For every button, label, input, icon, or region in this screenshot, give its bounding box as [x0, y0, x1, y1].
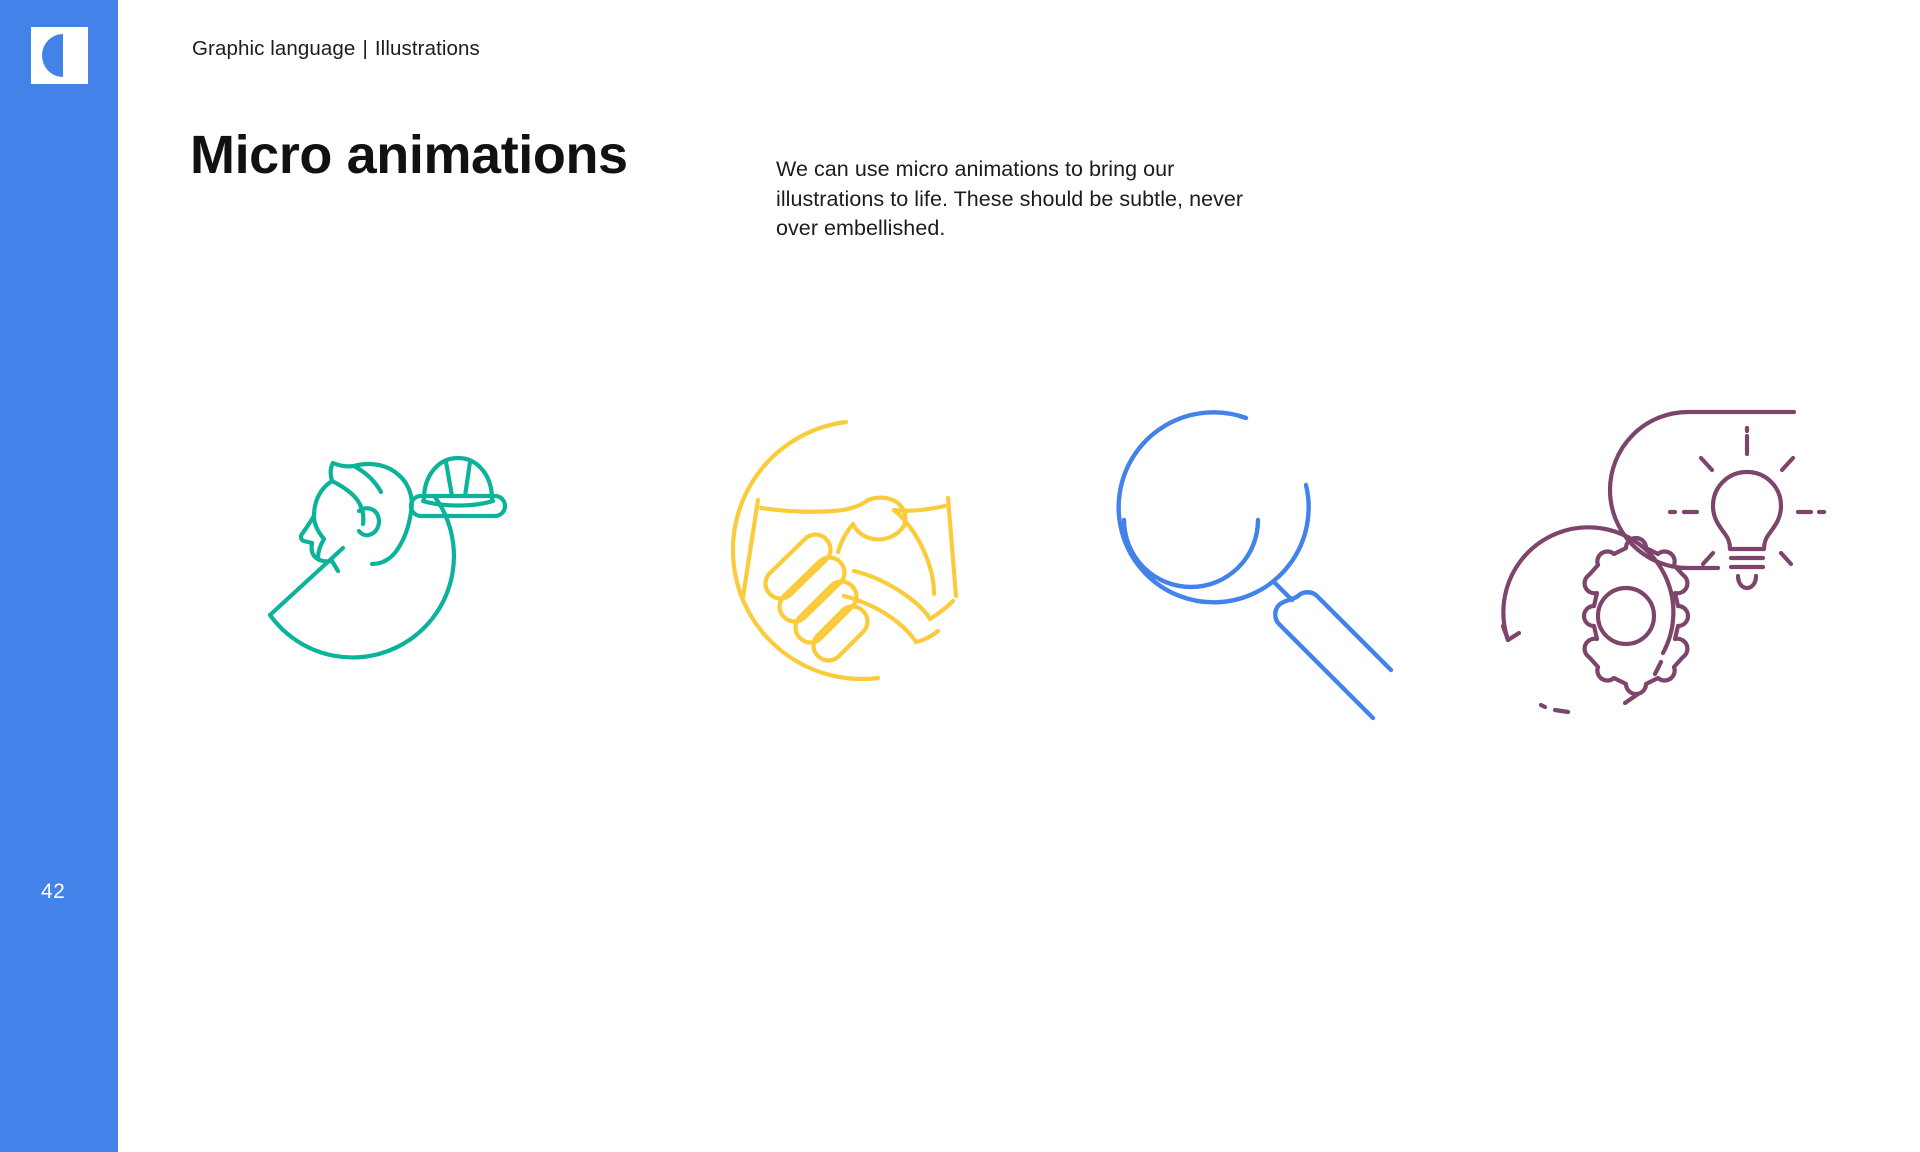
breadcrumb-page[interactable]: Illustrations: [375, 37, 480, 60]
brand-logo[interactable]: [31, 27, 88, 84]
slide-canvas: 42 Graphic language|Illustrations Micro …: [0, 0, 1920, 1152]
page-number: 42: [41, 880, 65, 904]
magnifying-glass-illustration: [1078, 400, 1408, 730]
worker-hard-hat-illustration: [218, 400, 548, 730]
page-title: Micro animations: [190, 124, 628, 186]
lightbulb-gear-illustration: [1498, 400, 1828, 730]
breadcrumb-divider: |: [355, 37, 374, 60]
breadcrumb: Graphic language|Illustrations: [192, 37, 480, 61]
body-paragraph: We can use micro animations to bring our…: [776, 155, 1246, 244]
sidebar: 42: [0, 0, 118, 1152]
illustration-row: [118, 400, 1920, 730]
breadcrumb-section[interactable]: Graphic language: [192, 37, 355, 60]
handshake-illustration: [658, 400, 988, 730]
logo-half-disc-icon: [42, 34, 63, 77]
